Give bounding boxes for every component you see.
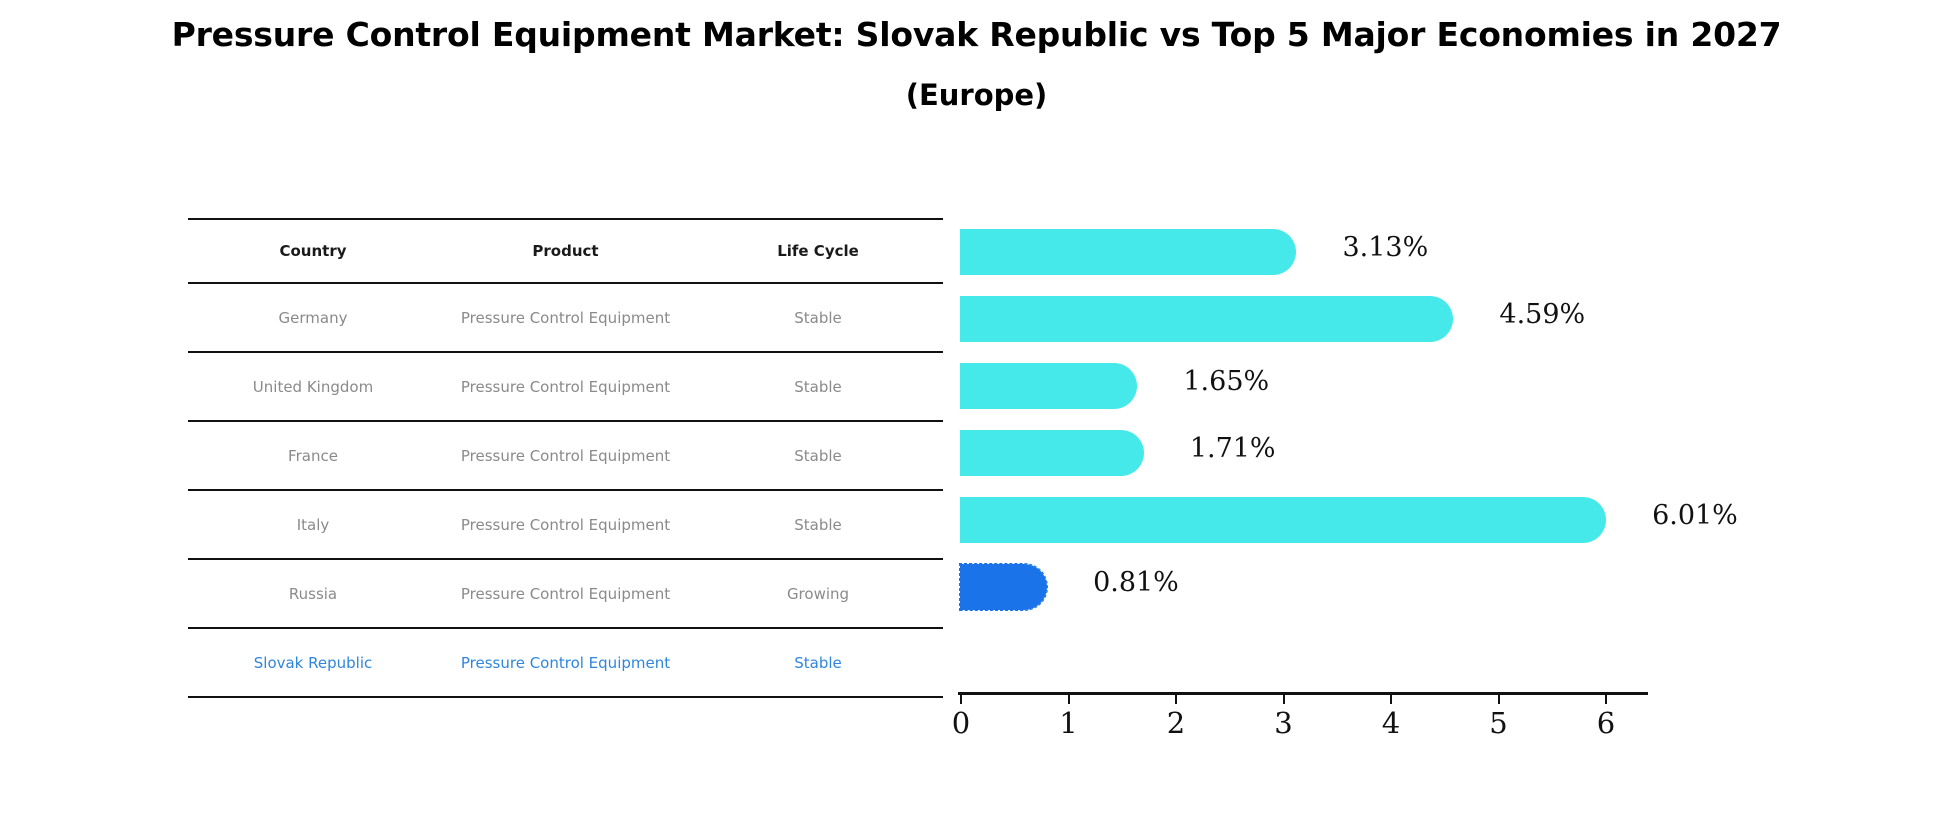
x-axis-tick-mark xyxy=(1283,695,1285,704)
bar[interactable] xyxy=(960,229,1296,275)
column-header-product: Product xyxy=(438,219,693,283)
bar-value-label: 3.13% xyxy=(1342,232,1428,263)
table-cell-product: Pressure Control Equipment xyxy=(438,352,693,421)
bar[interactable] xyxy=(960,430,1144,476)
table-cell-life-cycle: Stable xyxy=(693,421,943,490)
bar-chart: 3.13%4.59%1.65%1.71%6.01%0.81% xyxy=(960,218,1860,718)
column-header-life-cycle: Life Cycle xyxy=(693,219,943,283)
table-cell-country: Italy xyxy=(188,490,438,559)
bar-value-label: 4.59% xyxy=(1499,299,1585,330)
table-cell-country: France xyxy=(188,421,438,490)
x-axis-tick-label: 1 xyxy=(1059,706,1077,740)
table-cell-product: Pressure Control Equipment xyxy=(438,490,693,559)
table-cell-country: United Kingdom xyxy=(188,352,438,421)
table-cell-life-cycle: Growing xyxy=(693,559,943,628)
page-title-line-2: (Europe) xyxy=(0,70,1953,120)
x-axis-tick-mark xyxy=(960,695,962,704)
table-cell-life-cycle: Stable xyxy=(693,352,943,421)
bar-row: 1.71% xyxy=(960,419,1860,486)
bar-value-label: 6.01% xyxy=(1652,500,1738,531)
country-table: Country Product Life Cycle GermanyPressu… xyxy=(188,218,943,698)
x-axis-tick-mark xyxy=(1175,695,1177,704)
x-axis-tick-label: 0 xyxy=(952,706,970,740)
x-axis-tick-mark xyxy=(1068,695,1070,704)
bar-row: 0.81% xyxy=(960,553,1860,620)
x-axis-line xyxy=(958,692,1648,695)
bar[interactable] xyxy=(960,363,1137,409)
table-body: GermanyPressure Control EquipmentStableU… xyxy=(188,283,943,697)
table-cell-life-cycle: Stable xyxy=(693,490,943,559)
bar-row: 1.65% xyxy=(960,352,1860,419)
page-title-line-1: Pressure Control Equipment Market: Slova… xyxy=(0,10,1953,60)
x-axis-tick-label: 5 xyxy=(1489,706,1507,740)
bar-value-label: 0.81% xyxy=(1093,567,1179,598)
table-header-row: Country Product Life Cycle xyxy=(188,219,943,283)
table-row[interactable]: United KingdomPressure Control Equipment… xyxy=(188,352,943,421)
bar-value-label: 1.71% xyxy=(1190,433,1276,464)
bar-highlighted[interactable] xyxy=(960,564,1047,610)
x-axis-tick-label: 6 xyxy=(1597,706,1615,740)
x-axis-tick-label: 2 xyxy=(1167,706,1185,740)
x-axis-tick-mark xyxy=(1498,695,1500,704)
table-cell-life-cycle: Stable xyxy=(693,628,943,697)
x-axis-tick-mark xyxy=(1390,695,1392,704)
country-table-panel: Country Product Life Cycle GermanyPressu… xyxy=(188,218,943,698)
table-row[interactable]: ItalyPressure Control EquipmentStable xyxy=(188,490,943,559)
column-header-country: Country xyxy=(188,219,438,283)
table-row[interactable]: GermanyPressure Control EquipmentStable xyxy=(188,283,943,352)
bar-row: 3.13% xyxy=(960,218,1860,285)
x-axis-tick-mark xyxy=(1605,695,1607,704)
bar-row: 4.59% xyxy=(960,285,1860,352)
table-row[interactable]: FrancePressure Control EquipmentStable xyxy=(188,421,943,490)
table-row[interactable]: Slovak RepublicPressure Control Equipmen… xyxy=(188,628,943,697)
x-axis: 0123456 xyxy=(958,692,1648,762)
bar[interactable] xyxy=(960,497,1606,543)
table-cell-country: Slovak Republic xyxy=(188,628,438,697)
table-cell-country: Germany xyxy=(188,283,438,352)
table-cell-product: Pressure Control Equipment xyxy=(438,628,693,697)
bar-value-label: 1.65% xyxy=(1183,366,1269,397)
table-cell-life-cycle: Stable xyxy=(693,283,943,352)
table-cell-product: Pressure Control Equipment xyxy=(438,421,693,490)
table-row[interactable]: RussiaPressure Control EquipmentGrowing xyxy=(188,559,943,628)
table-cell-product: Pressure Control Equipment xyxy=(438,283,693,352)
table-cell-country: Russia xyxy=(188,559,438,628)
table-cell-product: Pressure Control Equipment xyxy=(438,559,693,628)
x-axis-tick-label: 4 xyxy=(1382,706,1400,740)
table-header: Country Product Life Cycle xyxy=(188,219,943,283)
x-axis-tick-label: 3 xyxy=(1274,706,1292,740)
bar[interactable] xyxy=(960,296,1453,342)
bar-row: 6.01% xyxy=(960,486,1860,553)
page-title: Pressure Control Equipment Market: Slova… xyxy=(0,10,1953,120)
